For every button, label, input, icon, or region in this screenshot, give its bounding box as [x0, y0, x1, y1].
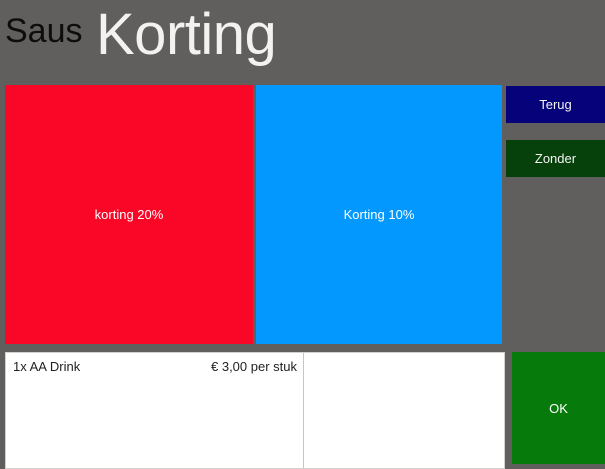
header: Saus Korting [0, 0, 605, 85]
back-button-label: Terug [539, 97, 572, 112]
order-line-name: 1x AA Drink [13, 359, 80, 374]
order-line-price: € 3,00 per stuk [211, 359, 297, 374]
order-line-item[interactable]: 1x AA Drink € 3,00 per stuk [6, 353, 303, 379]
without-discount-button[interactable]: Zonder [506, 140, 605, 177]
app-name: Saus [5, 12, 83, 50]
order-detail-pane [304, 353, 504, 468]
discount-tile-20-label: korting 20% [95, 207, 164, 222]
discount-tile-10[interactable]: Korting 10% [256, 85, 502, 344]
discount-tile-20[interactable]: korting 20% [5, 85, 253, 344]
order-line-list[interactable]: 1x AA Drink € 3,00 per stuk [6, 353, 304, 468]
without-discount-button-label: Zonder [535, 151, 576, 166]
page-title: Korting [96, 2, 276, 68]
discount-tile-10-label: Korting 10% [344, 207, 415, 222]
ok-button-label: OK [549, 401, 568, 416]
back-button[interactable]: Terug [506, 86, 605, 123]
ok-button[interactable]: OK [512, 352, 605, 464]
order-panel: 1x AA Drink € 3,00 per stuk [5, 352, 505, 469]
